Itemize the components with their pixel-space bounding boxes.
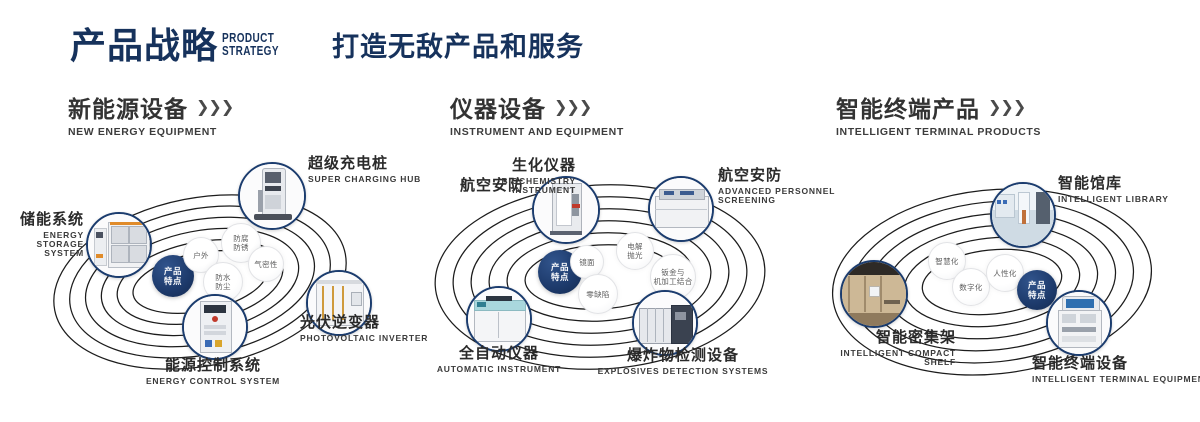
section-title-cn: 新能源设备 <box>68 96 188 122</box>
section-title-intelligent-terminal: 智能终端产品❯❯❯ INTELLIGENT TERMINAL PRODUCTS <box>836 96 1041 138</box>
node-intelligent-terminal-equipment[interactable] <box>1046 290 1112 356</box>
page-slogan: 打造无敌产品和服务 <box>332 34 584 61</box>
feature-bubble-airtightness: 气密性 <box>248 246 284 282</box>
node-label-energy-control-system: 能源控制系统 ENERGY CONTROL SYSTEM <box>118 358 308 386</box>
product-photo-explosives-detection <box>634 292 696 354</box>
diagram-instrument: 产品 特点 镜面 电解 抛光 钣金与 机加工结合 零缺陷 航空安防 <box>400 150 800 420</box>
chevrons-right-icon: ❯❯❯ <box>988 97 1025 117</box>
section-title-en: NEW ENERGY EQUIPMENT <box>68 126 233 138</box>
node-label-biochemistry-instrument: 生化仪器 BIOCHEMISTRY INSTRUMENT <box>428 158 576 195</box>
product-photo-terminal-equipment <box>1048 292 1110 354</box>
product-photo-automatic-instrument <box>468 288 530 350</box>
product-photo-control-system <box>184 296 246 358</box>
node-advanced-personnel-screening[interactable] <box>648 176 714 242</box>
section-title-new-energy: 新能源设备❯❯❯ NEW ENERGY EQUIPMENT <box>68 96 233 138</box>
feature-bubble-zero-defect: 零缺陷 <box>578 274 618 314</box>
diagram-new-energy: 产品 特点 户外 防腐 防锈 防水 防尘 气密性 <box>0 150 400 420</box>
page-title-en: PRODUCT STRATEGY <box>222 32 279 58</box>
section-title-instrument: 仪器设备❯❯❯ INSTRUMENT AND EQUIPMENT <box>450 96 624 138</box>
page-header: 产品战略 PRODUCT STRATEGY 打造无敌产品和服务 <box>0 0 1200 88</box>
node-intelligent-compact-shelf[interactable] <box>840 260 908 328</box>
feature-bubble-electro-polishing: 电解 抛光 <box>616 232 654 270</box>
core-label: 产品 特点 <box>164 266 182 286</box>
node-label-energy-storage-system: 储能系统 ENERGY STORAGE SYSTEM <box>0 212 84 258</box>
section-title-en: INTELLIGENT TERMINAL PRODUCTS <box>836 126 1041 138</box>
node-energy-control-system[interactable] <box>182 294 248 360</box>
product-strategy-infographic: 产品战略 PRODUCT STRATEGY 打造无敌产品和服务 新能源设备❯❯❯… <box>0 0 1200 422</box>
core-label: 产品 特点 <box>551 262 569 282</box>
core-label: 产品 特点 <box>1028 280 1046 300</box>
node-label-intelligent-compact-shelf: 智能密集架 INTELLIGENT COMPACT SHELF <box>790 330 956 367</box>
product-photo-charging-hub <box>240 164 304 228</box>
node-label-automatic-instrument: 全自动仪器 AUTOMATIC INSTRUMENT <box>428 346 570 374</box>
node-label-explosives-detection-systems: 爆炸物检测设备 EXPLOSIVES DETECTION SYSTEMS <box>588 348 778 376</box>
page-title-cn: 产品战略 <box>70 28 218 64</box>
chevrons-right-icon: ❯❯❯ <box>196 97 233 117</box>
product-photo-intelligent-library <box>992 184 1054 246</box>
node-energy-storage-system[interactable] <box>86 212 152 278</box>
product-photo-energy-storage <box>88 214 150 276</box>
node-automatic-instrument[interactable] <box>466 286 532 352</box>
section-title-cn: 仪器设备 <box>450 96 546 122</box>
node-label-intelligent-library: 智能馆库 INTELLIGENT LIBRARY <box>1058 176 1198 204</box>
diagram-intelligent-terminal: 智慧化 数字化 人性化 产品 特点 智能馆库 INTEL <box>800 150 1200 420</box>
chevrons-right-icon: ❯❯❯ <box>554 97 591 117</box>
product-photo-screening <box>650 178 712 240</box>
node-label-intelligent-terminal-equipment: 智能终端设备 INTELLIGENT TERMINAL EQUIPMENT <box>1032 356 1200 384</box>
feature-bubble-digital: 数字化 <box>952 268 990 306</box>
product-photo-compact-shelf <box>842 262 906 326</box>
section-title-cn: 智能终端产品 <box>836 96 980 122</box>
node-super-charging-hub[interactable] <box>238 162 306 230</box>
node-intelligent-library[interactable] <box>990 182 1056 248</box>
section-title-en: INSTRUMENT AND EQUIPMENT <box>450 126 624 138</box>
